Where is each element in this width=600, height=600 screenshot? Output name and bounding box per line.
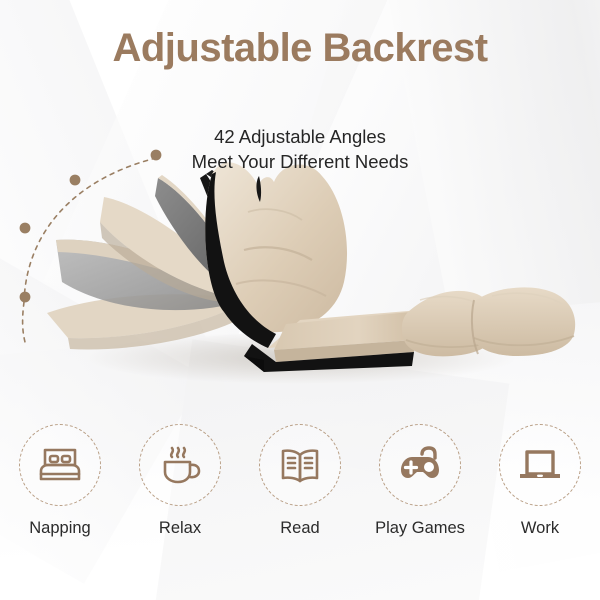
feature-item-napping[interactable]: Napping: [0, 424, 120, 554]
bed-icon: [36, 441, 84, 489]
feature-label: Napping: [29, 519, 90, 538]
subtitle-line-2: Meet Your Different Needs: [0, 149, 600, 174]
product-feature-banner: Adjustable Backrest 42 Adjustable Angles…: [0, 0, 600, 600]
gamepad-icon: [396, 441, 444, 489]
page-subtitle: 42 Adjustable Angles Meet Your Different…: [0, 124, 600, 174]
feature-label: Work: [521, 519, 559, 538]
pillow-right: [471, 287, 575, 356]
feature-circle: [499, 424, 581, 506]
feature-label: Play Games: [375, 519, 465, 538]
feature-label: Read: [280, 519, 319, 538]
feature-circle: [259, 424, 341, 506]
open-book-icon: [276, 441, 324, 489]
feature-item-read[interactable]: Read: [240, 424, 360, 554]
laptop-icon: [516, 441, 564, 489]
feature-icon-row: Napping Relax: [0, 424, 600, 554]
arc-dot-4: [20, 292, 31, 303]
feature-circle: [139, 424, 221, 506]
page-title: Adjustable Backrest: [0, 26, 600, 71]
arc-dot-3: [20, 223, 31, 234]
coffee-cup-icon: [156, 441, 204, 489]
feature-item-work[interactable]: Work: [480, 424, 600, 554]
feature-circle: [379, 424, 461, 506]
arc-dot-2: [70, 175, 81, 186]
subtitle-line-1: 42 Adjustable Angles: [0, 124, 600, 149]
feature-item-play-games[interactable]: Play Games: [360, 424, 480, 554]
feature-label: Relax: [159, 519, 201, 538]
feature-circle: [19, 424, 101, 506]
feature-item-relax[interactable]: Relax: [120, 424, 240, 554]
